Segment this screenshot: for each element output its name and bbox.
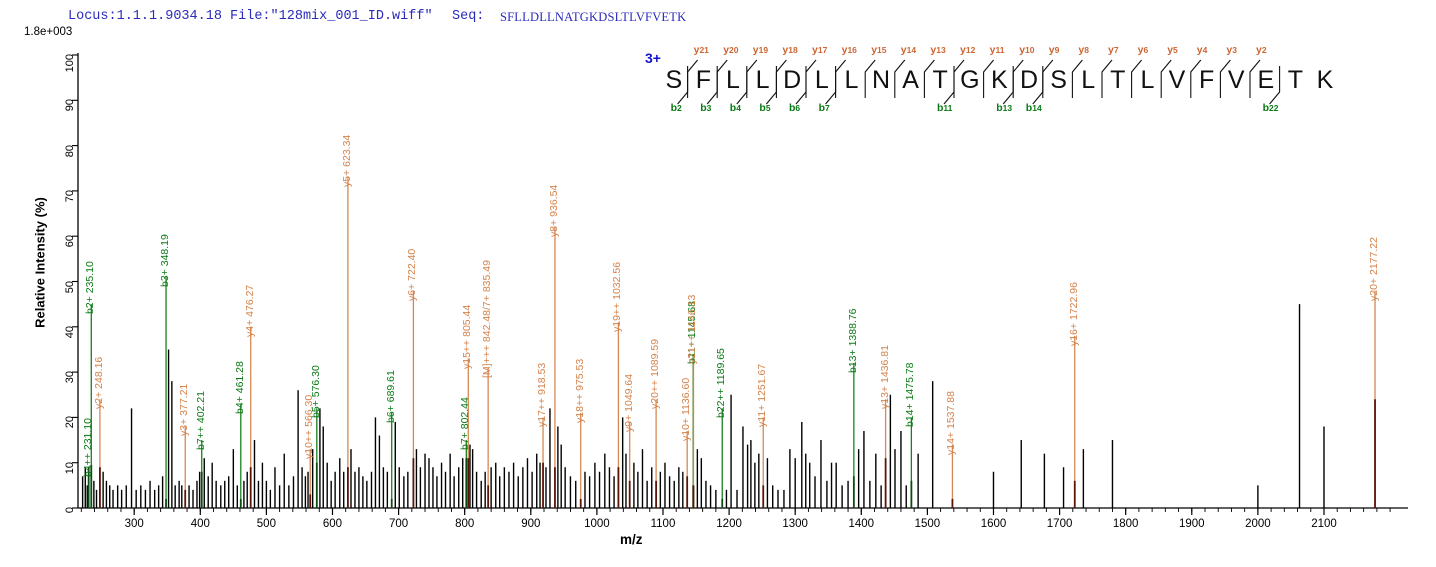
x-tick-label: 2100	[1302, 518, 1346, 530]
y-ion-label-9: y9	[1049, 44, 1060, 56]
y-ion-bracket	[924, 60, 934, 98]
b-ion-bracket	[1003, 66, 1013, 104]
peak-annotation-label: b3+ 348.19	[159, 234, 171, 287]
y-ion-label-8: y8	[1078, 44, 1089, 56]
y-ion-label-12: y12	[960, 44, 975, 56]
peak-annotation-label: y15++ 805.44	[461, 304, 473, 368]
b-ion-label-13: b13	[996, 102, 1012, 114]
y-ion-label-11: y11	[990, 44, 1005, 56]
peak-annotation-label: y5+ 623.34	[341, 135, 353, 187]
y-ion-label-5: y5	[1167, 44, 1178, 56]
b-ion-label-4: b4	[730, 102, 741, 114]
y-ion-label-4: y4	[1197, 44, 1208, 56]
b-ion-bracket	[707, 66, 717, 104]
peak-annotation-label: y3+ 377.21	[178, 384, 190, 436]
y-tick-label: 0	[64, 507, 76, 533]
b-ion-bracket	[737, 66, 747, 104]
y-ion-bracket	[836, 60, 846, 98]
y-ion-bracket	[1043, 60, 1053, 98]
y-tick-label: 40	[64, 326, 76, 352]
peak-annotation-label: y21++ 1146.13	[686, 295, 698, 364]
b-ion-label-5: b5	[759, 102, 770, 114]
y-ion-bracket	[895, 60, 905, 98]
b-ion-label-7: b7	[819, 102, 830, 114]
y-ion-bracket	[776, 60, 786, 98]
y-ion-bracket	[1013, 60, 1023, 98]
y-ion-bracket	[1102, 60, 1112, 98]
peak-annotation-label: b4++ 231.10	[82, 418, 94, 477]
peak-annotation-label: y20+ 2177.22	[1368, 237, 1380, 301]
peak-annotation-label: y13+ 1436.81	[879, 345, 891, 409]
y-tick-label: 50	[64, 281, 76, 307]
b-ion-label-3: b3	[700, 102, 711, 114]
x-tick-label: 900	[509, 518, 553, 530]
y-ion-label-13: y13	[930, 44, 945, 56]
peak-annotation-label: y20++ 1089.59	[649, 339, 661, 409]
peak-annotation-label: b5+ 576.30	[310, 365, 322, 418]
peak-annotation-label: b4+ 461.28	[234, 361, 246, 414]
y-ion-label-19: y19	[753, 44, 768, 56]
x-tick-label: 1900	[1170, 518, 1214, 530]
y-ion-label-21: y21	[694, 44, 709, 56]
peak-annotation-label: b7++ 402.21	[195, 391, 207, 450]
y-tick-label: 30	[64, 371, 76, 397]
peak-annotation-label: b13+ 1388.76	[847, 309, 859, 374]
y-ion-bracket	[984, 60, 994, 98]
x-tick-label: 1000	[575, 518, 619, 530]
b-ion-label-22: b22	[1263, 102, 1279, 114]
x-tick-label: 1400	[839, 518, 883, 530]
peak-annotation-label: y14+ 1537.88	[945, 391, 957, 455]
y-ion-bracket	[1250, 60, 1260, 98]
x-axis-title: m/z	[620, 532, 643, 547]
peak-annotation-label: b7+ 802.44	[459, 397, 471, 450]
x-tick-label: 1300	[773, 518, 817, 530]
peak-annotation-label: y8+ 936.54	[548, 185, 560, 237]
y-ion-label-20: y20	[723, 44, 738, 56]
x-tick-label: 1200	[707, 518, 751, 530]
y-ion-label-6: y6	[1138, 44, 1149, 56]
y-ion-bracket	[954, 60, 964, 98]
y-ion-bracket	[1072, 60, 1082, 98]
y-ion-bracket	[1132, 60, 1142, 98]
y-tick-label: 10	[64, 462, 76, 488]
x-tick-label: 800	[443, 518, 487, 530]
b-ion-label-6: b6	[789, 102, 800, 114]
y-ion-bracket	[717, 60, 727, 98]
peak-annotation-label: y19++ 1032.56	[611, 262, 623, 332]
peak-annotation-label: y9+ 1049.64	[623, 374, 635, 432]
y-tick-label: 80	[64, 145, 76, 171]
peak-annotation-label: [M]+++ 842.48/7+ 835.49	[481, 260, 493, 378]
peak-annotation-label: y2+ 248.16	[93, 357, 105, 409]
x-tick-label: 600	[310, 518, 354, 530]
peak-annotation-label: y11+ 1251.67	[756, 364, 768, 427]
y-tick-label: 60	[64, 235, 76, 261]
b-ion-bracket	[766, 66, 776, 104]
b-ion-bracket	[1033, 66, 1043, 104]
b-ion-bracket	[678, 66, 688, 104]
x-tick-label: 400	[178, 518, 222, 530]
y-ion-label-7: y7	[1108, 44, 1119, 56]
y-ion-label-17: y17	[812, 44, 827, 56]
b-ion-bracket	[944, 66, 954, 104]
peak-annotation-label: y16+ 1722.96	[1068, 282, 1080, 346]
x-tick-label: 1100	[641, 518, 685, 530]
y-tick-label: 90	[64, 99, 76, 125]
peak-annotation-label: b2+ 235.10	[84, 261, 96, 314]
peptide-fragmentation-diagram: 3+ SFLLDLLNATGKDSLTLVFVETKy21y20y19y18y1…	[645, 44, 1345, 122]
b-ion-bracket	[1270, 66, 1280, 104]
x-tick-label: 2000	[1236, 518, 1280, 530]
x-tick-label: 1500	[905, 518, 949, 530]
y-tick-label: 100	[64, 54, 76, 80]
x-tick-label: 500	[244, 518, 288, 530]
y-ion-label-18: y18	[782, 44, 797, 56]
peak-annotation-label: y6+ 722.40	[406, 248, 418, 300]
b-ion-bracket	[826, 66, 836, 104]
b-ion-bracket	[796, 66, 806, 104]
peak-annotation-label: y18++ 975.53	[574, 359, 586, 423]
y-ion-bracket	[1161, 60, 1171, 98]
peak-annotation-label: y17++ 918.53	[536, 363, 548, 427]
y-ion-label-10: y10	[1019, 44, 1034, 56]
peak-annotation-label: b14+ 1475.78	[904, 363, 916, 428]
y-axis-title: Relative Intensity (%)	[33, 163, 48, 363]
b-ion-label-2: b2	[671, 102, 682, 114]
b-ion-label-14: b14	[1026, 102, 1042, 114]
b-ion-label-11: b11	[937, 102, 952, 114]
x-tick-label: 700	[377, 518, 421, 530]
y-ion-label-16: y16	[842, 44, 857, 56]
y-ion-label-15: y15	[871, 44, 886, 56]
y-ion-bracket	[747, 60, 757, 98]
x-tick-label: 1700	[1038, 518, 1082, 530]
peak-annotation-label: b6+ 689.61	[385, 370, 397, 423]
y-ion-bracket	[688, 60, 698, 98]
y-ion-label-3: y3	[1226, 44, 1237, 56]
y-tick-label: 20	[64, 416, 76, 442]
y-ion-bracket	[865, 60, 875, 98]
peak-annotation-label: b22++ 1189.65	[715, 348, 727, 418]
y-ion-label-2: y2	[1256, 44, 1267, 56]
peak-annotation-label: y4+ 476.27	[244, 285, 256, 337]
y-ion-bracket	[806, 60, 816, 98]
y-ion-bracket	[1191, 60, 1201, 98]
y-ion-label-14: y14	[901, 44, 916, 56]
y-tick-label: 70	[64, 190, 76, 216]
y-ion-bracket	[1220, 60, 1230, 98]
x-tick-label: 1600	[971, 518, 1015, 530]
peak-annotation-label: y10+ 1136.60	[680, 378, 692, 441]
x-tick-label: 300	[112, 518, 156, 530]
x-tick-label: 1800	[1104, 518, 1148, 530]
